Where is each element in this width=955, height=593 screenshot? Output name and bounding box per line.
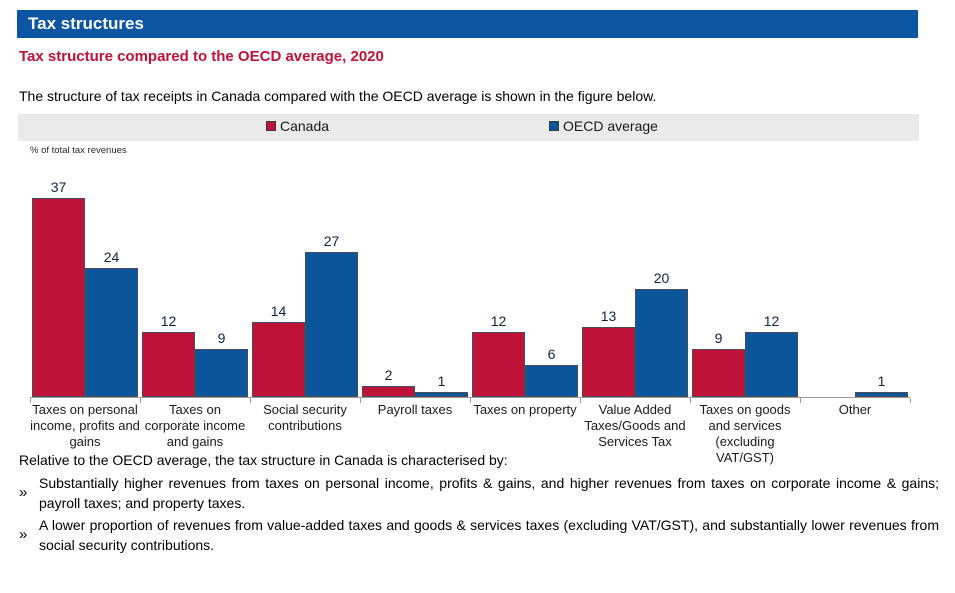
bar-oecd-average[interactable]: [855, 392, 908, 397]
legend-label-oecd-average: OECD average: [563, 118, 658, 134]
x-axis-label: Taxes on property: [470, 402, 580, 418]
summary-bullet-text: Substantially higher revenues from taxes…: [39, 473, 939, 513]
summary-lead-text: Relative to the OECD average, the tax st…: [19, 452, 508, 468]
bar-value-label: 12: [139, 313, 199, 329]
bar-column: 6: [525, 182, 578, 397]
summary-bullet-item: » A lower proportion of revenues from va…: [19, 515, 939, 555]
bar-value-label: 13: [579, 308, 639, 324]
intro-paragraph: The structure of tax receipts in Canada …: [19, 88, 656, 104]
bar-column: 13: [582, 182, 635, 397]
legend-swatch-oecd-icon: [549, 121, 559, 131]
bar-oecd-average[interactable]: [745, 332, 798, 397]
bar-column: 2: [362, 182, 415, 397]
bar-value-label: 1: [412, 373, 472, 389]
bar-group: 912: [692, 182, 798, 397]
x-axis-label: Taxes on personal income, profits and ga…: [30, 402, 140, 450]
legend-item-oecd-average[interactable]: OECD average: [549, 118, 658, 134]
bar-column: 24: [85, 182, 138, 397]
bar-value-label: 27: [302, 233, 362, 249]
legend-swatch-canada-icon: [266, 121, 276, 131]
bar-value-label: 1: [852, 373, 912, 389]
bar-canada[interactable]: [142, 332, 195, 397]
bar-canada[interactable]: [32, 198, 85, 397]
bar-value-label: 24: [82, 249, 142, 265]
bar-canada[interactable]: [472, 332, 525, 397]
chart-plot-area: 372412914272112613209121: [18, 158, 919, 398]
chart-subtitle: Tax structure compared to the OECD avera…: [19, 48, 384, 65]
bar-column: 14: [252, 182, 305, 397]
bar-value-label: 37: [29, 179, 89, 195]
bar-column: 12: [472, 182, 525, 397]
bar-group: 21: [362, 182, 468, 397]
x-axis-label: Social security contributions: [250, 402, 360, 434]
bar-column: 12: [142, 182, 195, 397]
bar-value-label: 6: [522, 346, 582, 362]
bar-oecd-average[interactable]: [305, 252, 358, 397]
summary-bullet-item: » Substantially higher revenues from tax…: [19, 473, 939, 513]
bar-canada[interactable]: [252, 322, 305, 397]
bar-column: 27: [305, 182, 358, 397]
bar-column: 37: [32, 182, 85, 397]
bar-group: 1320: [582, 182, 688, 397]
bar-value-label: 9: [689, 330, 749, 346]
bar-group: 1: [802, 182, 908, 397]
bar-value-label: 9: [192, 330, 252, 346]
bar-column: 20: [635, 182, 688, 397]
page-header-band: Tax structures: [17, 10, 918, 38]
bar-column: 12: [745, 182, 798, 397]
tax-structure-chart: Canada OECD average % of total tax reven…: [18, 114, 919, 444]
bar-value-label: 2: [359, 367, 419, 383]
bar-group: 126: [472, 182, 578, 397]
bar-group: 129: [142, 182, 248, 397]
bar-oecd-average[interactable]: [415, 392, 468, 397]
bullet-marker-icon: »: [19, 515, 39, 542]
y-axis-unit-label: % of total tax revenues: [30, 145, 127, 156]
bar-oecd-average[interactable]: [85, 268, 138, 397]
summary-bullet-text: A lower proportion of revenues from valu…: [39, 515, 939, 555]
legend-item-canada[interactable]: Canada: [266, 118, 329, 134]
x-axis-label: Value Added Taxes/Goods and Services Tax: [580, 402, 690, 450]
chart-legend: Canada OECD average: [18, 114, 919, 141]
bar-value-label: 12: [469, 313, 529, 329]
bar-column: 1: [415, 182, 468, 397]
bar-canada[interactable]: [362, 386, 415, 397]
bar-value-label: 14: [249, 303, 309, 319]
bar-oecd-average[interactable]: [635, 289, 688, 397]
x-axis-label: Other: [800, 402, 910, 418]
bar-value-label: 20: [632, 270, 692, 286]
bar-column: 9: [692, 182, 745, 397]
bullet-marker-icon: »: [19, 473, 39, 500]
bar-canada[interactable]: [692, 349, 745, 397]
page-title: Tax structures: [28, 14, 144, 34]
bar-group: 1427: [252, 182, 358, 397]
bar-value-label: 12: [742, 313, 802, 329]
bar-column: 9: [195, 182, 248, 397]
bar-oecd-average[interactable]: [525, 365, 578, 397]
bar-oecd-average[interactable]: [195, 349, 248, 397]
x-axis-label: Payroll taxes: [360, 402, 470, 418]
bar-group: 3724: [32, 182, 138, 397]
bar-canada[interactable]: [582, 327, 635, 397]
bar-column: 1: [855, 182, 908, 397]
x-axis-label: Taxes on corporate income and gains: [140, 402, 250, 450]
legend-label-canada: Canada: [280, 118, 329, 134]
x-axis-label: Taxes on goods and services (excluding V…: [690, 402, 800, 466]
bar-column: [802, 182, 855, 397]
